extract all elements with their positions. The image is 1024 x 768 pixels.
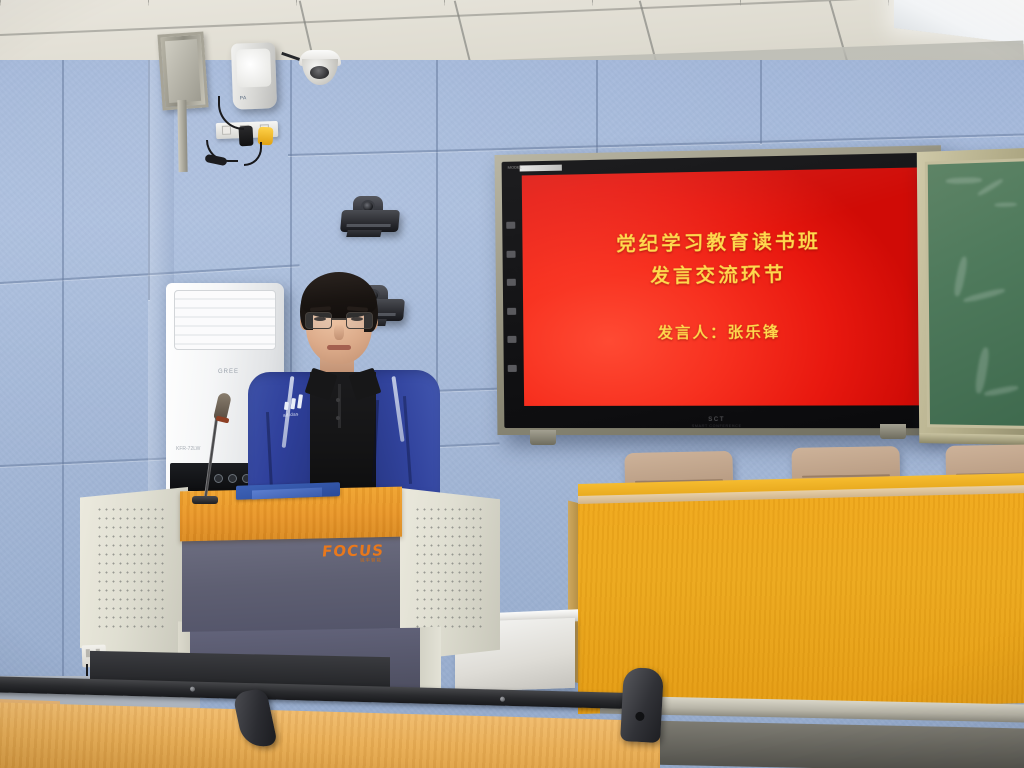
- toolbar-icon[interactable]: [507, 336, 516, 343]
- wall-panel-seam: [596, 60, 598, 156]
- toolbar-icon[interactable]: [507, 250, 516, 257]
- foreground-desk-top: [0, 702, 660, 768]
- microphone-base: [192, 496, 218, 504]
- glasses-bridge: [332, 318, 346, 320]
- chalkboard-surface: [925, 158, 1024, 429]
- bracket-post: [177, 100, 187, 172]
- display-top-label: [520, 165, 562, 172]
- ac-button[interactable]: [228, 474, 237, 483]
- slide-title-line2: 发言交流环节: [523, 258, 920, 290]
- display-wall-mount-left: [530, 430, 556, 445]
- dome-camera: [299, 50, 341, 86]
- presentation-slide[interactable]: 党纪学习教育读书班 发言交流环节 发言人：张乐锋: [522, 167, 922, 406]
- outlet-socket[interactable]: [222, 126, 231, 135]
- knob-hole: [635, 712, 644, 721]
- mouth: [327, 345, 351, 350]
- logo-bar: [284, 402, 289, 411]
- lectern-left-wing: [80, 487, 188, 662]
- foreground-shelf-right-lower: [600, 720, 1024, 768]
- shirt-placket: [338, 384, 341, 428]
- display-bezel: MODEL 菜单 白板 批注 设置 党纪学习教育读书班 发言交流环节 发言人：张…: [502, 153, 937, 429]
- chalk-mark: [984, 384, 1019, 397]
- ptz-mount: [346, 230, 381, 237]
- chalk-mark: [953, 256, 969, 297]
- shirt-button: [336, 398, 340, 402]
- toolbar-icon[interactable]: [506, 222, 515, 229]
- foreground-desk: [0, 676, 660, 768]
- glasses-lens-right: [346, 312, 373, 329]
- speaker-grille: [236, 48, 271, 87]
- wall-bracket: [157, 31, 208, 110]
- nose: [334, 324, 344, 340]
- adidas-logo-icon: [283, 393, 306, 410]
- shirt-button: [336, 416, 340, 420]
- lectern-brand-sublabel: 锐丰智能: [360, 557, 382, 563]
- glasses-lens-left: [305, 312, 332, 329]
- chalk-mark: [994, 202, 1017, 207]
- chalk-mark: [974, 347, 991, 394]
- ac-button[interactable]: [214, 474, 223, 483]
- wall-panel-seam: [62, 60, 64, 680]
- wall-panel-seam: [760, 60, 762, 144]
- ptz-body: [340, 210, 400, 232]
- lectern-speaker-grille: [414, 505, 486, 631]
- ptz-indicator-strip: [346, 224, 390, 227]
- rail-screw: [190, 686, 195, 691]
- photo-scene: PA GREE KFR-72LW: [0, 0, 1024, 768]
- interactive-display-frame: MODEL 菜单 白板 批注 设置 党纪学习教育读书班 发言交流环节 发言人：张…: [495, 145, 945, 435]
- ac-model-label: KFR-72LW: [176, 446, 200, 454]
- slide-title-line1: 党纪学习教育读书班: [522, 225, 919, 258]
- rail-screw: [500, 697, 505, 702]
- green-chalkboard: [917, 148, 1024, 440]
- toolbar-icon[interactable]: [508, 365, 517, 372]
- display-brand-sublabel: SMART CONFERENCE: [692, 424, 742, 428]
- logo-bar: [297, 394, 303, 408]
- toolbar-icon[interactable]: [507, 279, 516, 286]
- chalk-mark: [946, 177, 982, 184]
- ac-brand-label: GREE: [218, 369, 239, 375]
- chalk-mark: [963, 287, 1006, 304]
- display-wall-mount-right: [880, 424, 906, 439]
- display-brand-logo: SCT: [708, 417, 725, 423]
- lectern-front-panel: FOCUS 锐丰智能: [182, 535, 400, 632]
- speaker-person: adidas: [248, 272, 438, 500]
- slide-presenter-line: 发言人：张乐锋: [523, 320, 920, 344]
- display-left-toolbar[interactable]: [506, 222, 517, 372]
- lectern-speaker-grille: [96, 505, 168, 631]
- desk-clamp-knob[interactable]: [620, 667, 664, 743]
- logo-bar: [290, 398, 296, 409]
- bracket-inner: [165, 39, 201, 103]
- toolbar-icon[interactable]: [507, 308, 516, 315]
- dome-camera-lens: [310, 66, 329, 79]
- display-model-text: MODEL: [508, 164, 522, 169]
